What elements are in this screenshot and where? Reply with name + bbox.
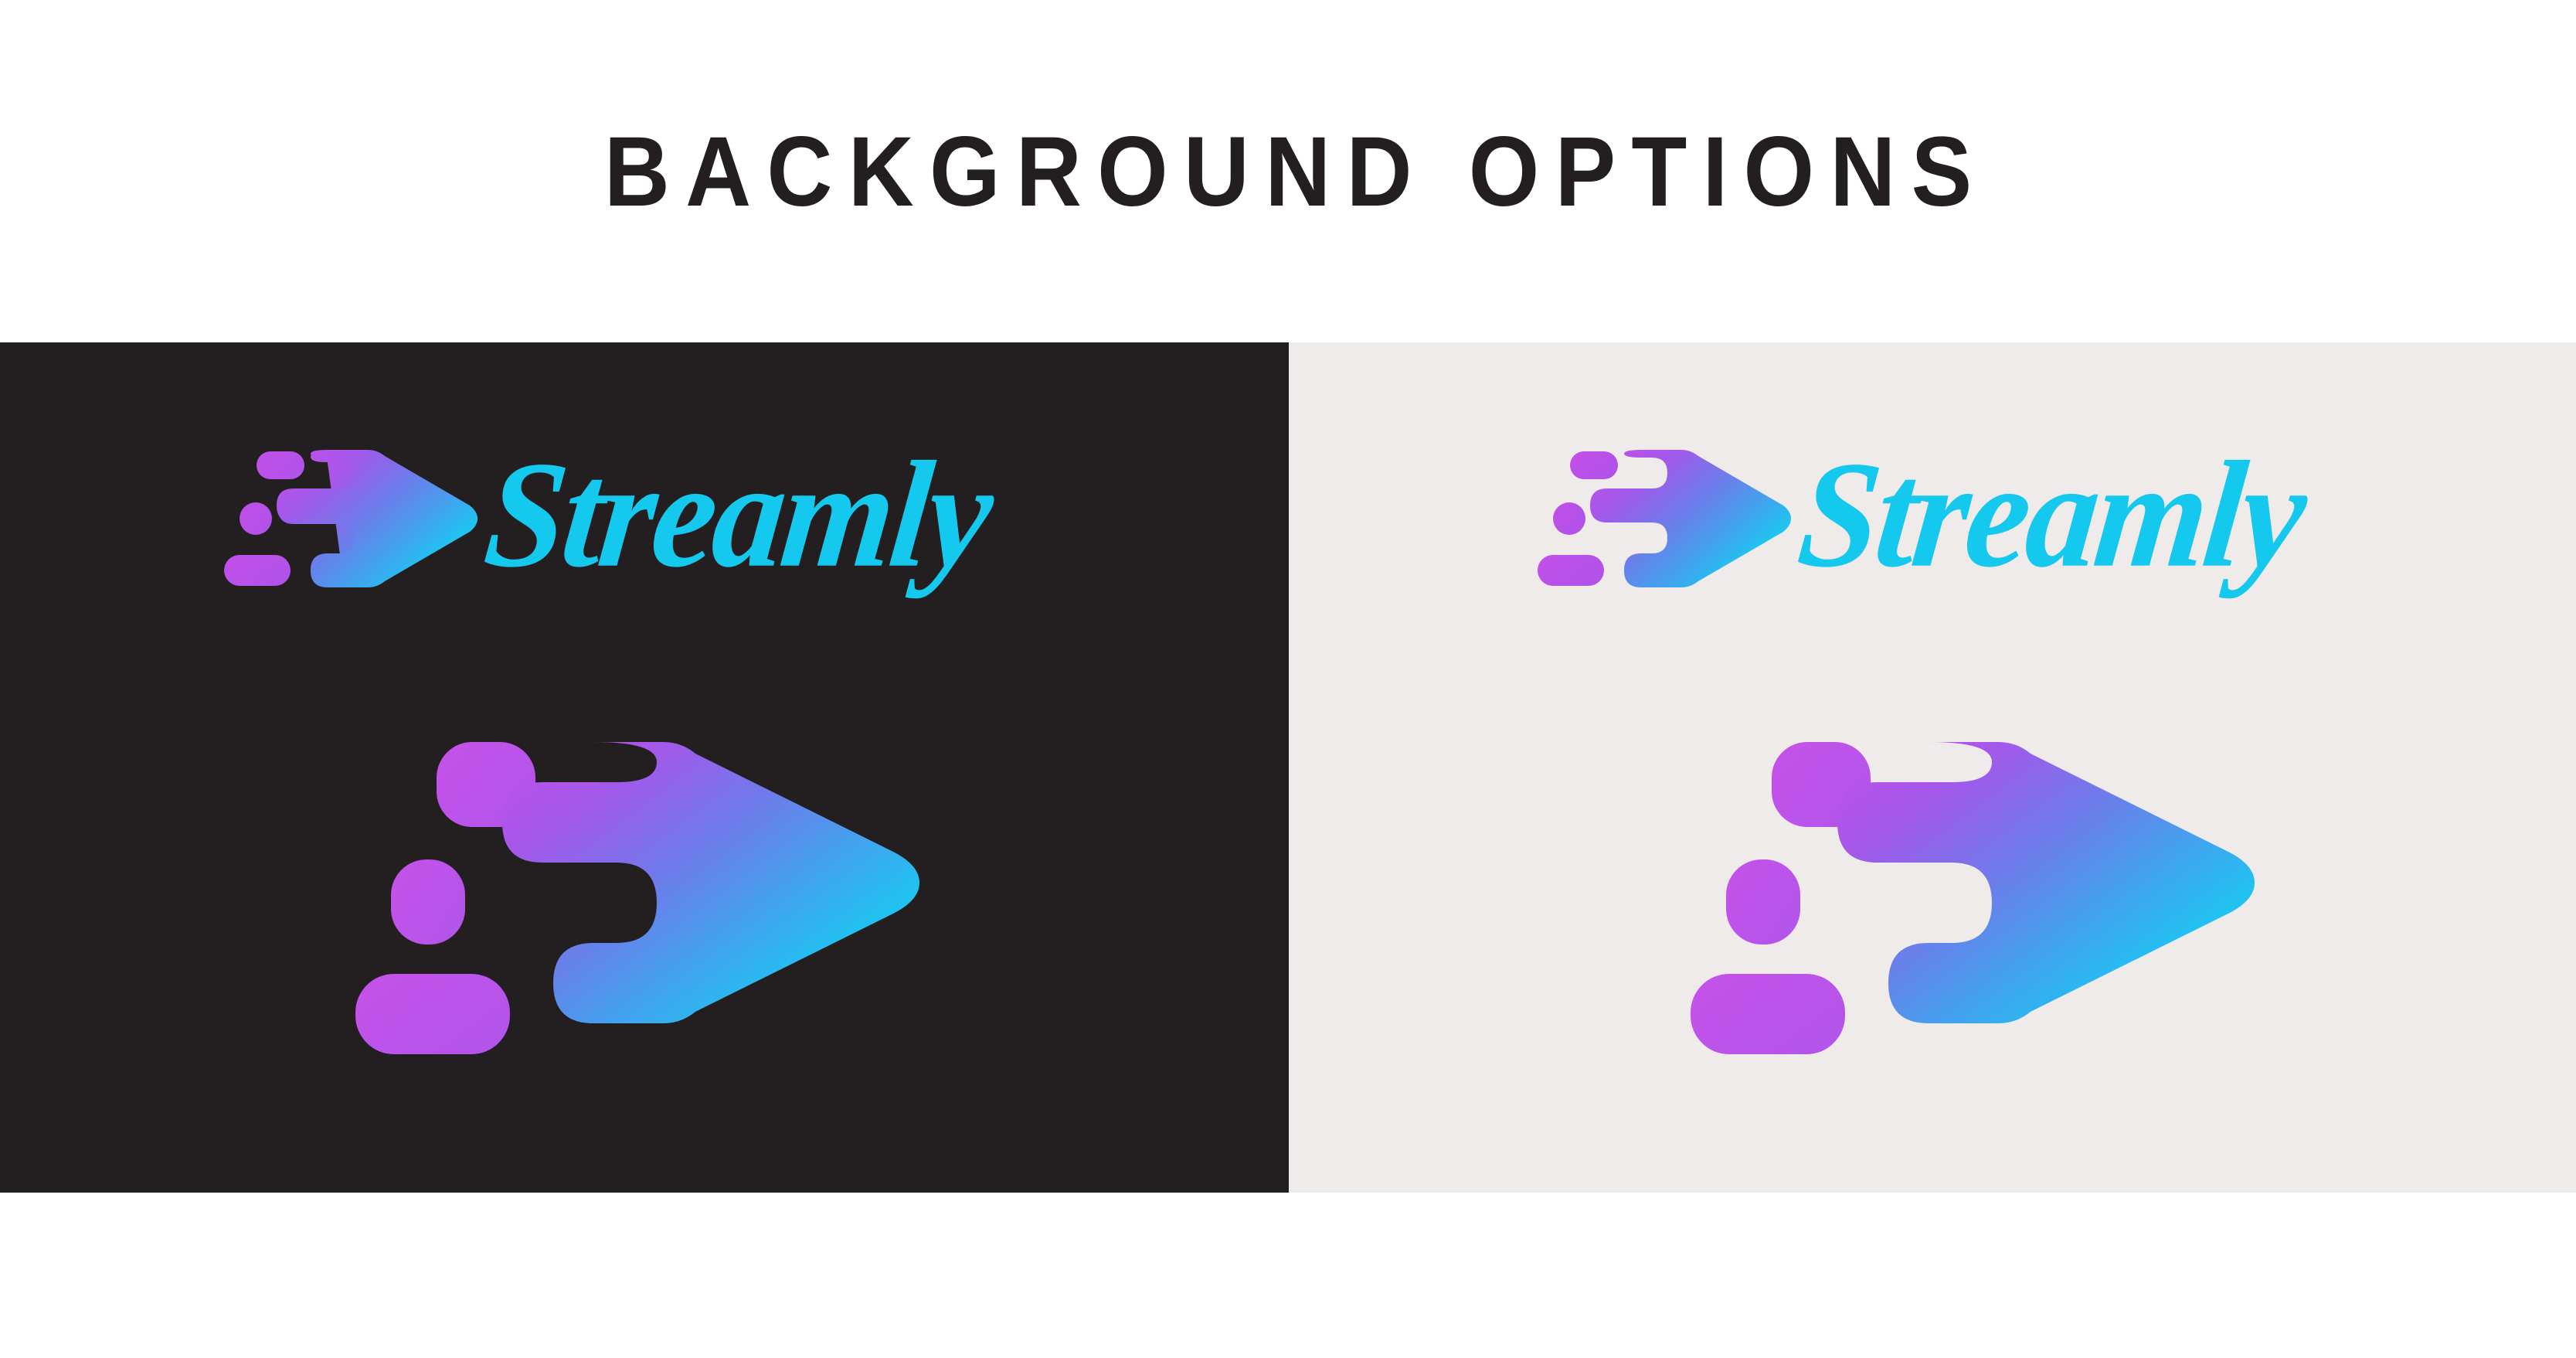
logo-lockup-light: Streamly xyxy=(1536,433,2302,604)
page-title: BACKGROUND OPTIONS xyxy=(103,114,2472,230)
wordmark-streamly: Streamly xyxy=(1793,438,2311,591)
background-options-canvas: BACKGROUND OPTIONS xyxy=(0,0,2576,1358)
streamly-speed-arrow-icon xyxy=(325,719,943,1043)
streamly-speed-arrow-icon xyxy=(1660,719,2278,1043)
streamly-speed-arrow-icon xyxy=(1536,433,1791,604)
logo-lockup-dark: Streamly xyxy=(223,433,989,604)
streamly-speed-arrow-icon xyxy=(223,433,477,604)
wordmark-streamly: Streamly xyxy=(479,438,997,591)
